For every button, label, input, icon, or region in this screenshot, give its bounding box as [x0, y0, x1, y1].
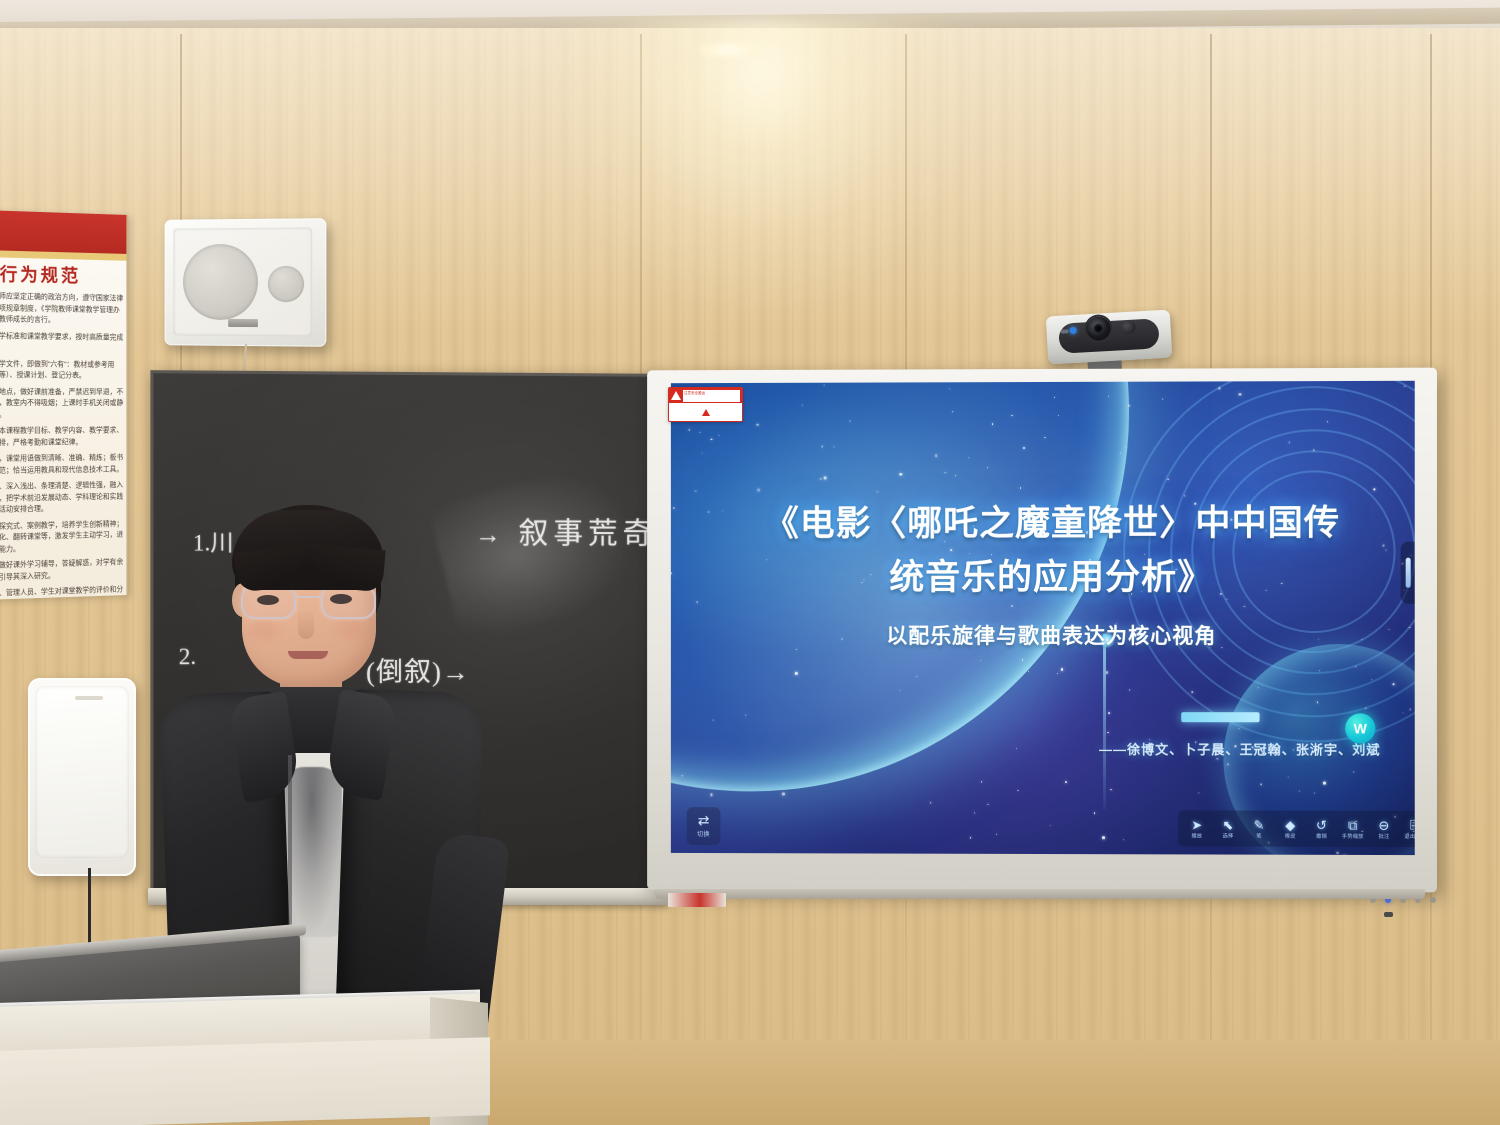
star [1094, 813, 1095, 814]
display-bottom-sticker [668, 893, 726, 907]
light-beam-graphic [1103, 634, 1106, 809]
display-warning-sticker: 注意安全搬运 [668, 387, 743, 422]
speaker-tweeter-icon [268, 266, 304, 302]
toolbar-播放-button[interactable]: ➤播放 [1181, 810, 1212, 846]
presenter-mouth [288, 651, 328, 659]
toolbar-label: 撤销 [1316, 832, 1327, 839]
presentation-slide[interactable]: 《电影〈哪吒之魔童降世〉中中国传 统音乐的应用分析》 以配乐旋律与歌曲表达为核心… [671, 381, 1415, 855]
poster-paragraph: 神圣职责，教师应坚定正确的政治方向，遵守国家法律法规和学校各项规章制度，《学院教… [0, 289, 125, 326]
toolbar-icon: ➤ [1191, 818, 1202, 831]
wps-float-button[interactable]: W [1345, 713, 1375, 743]
toolbar-label: 笔 [1256, 832, 1261, 839]
star [1017, 790, 1018, 791]
warning-triangle-small-icon [702, 409, 710, 416]
slide-divider [1181, 712, 1259, 722]
switch-label: 切换 [697, 829, 710, 838]
toolbar-icon: ↺ [1316, 818, 1327, 831]
display-button-source[interactable] [1430, 897, 1436, 903]
switch-icon: ⇄ [698, 814, 710, 827]
slide-title: 《电影〈哪吒之魔童降世〉中中国传 统音乐的应用分析》 [732, 496, 1372, 605]
wall-speaker [165, 218, 327, 347]
toolbar-icon: ⧉ [1348, 818, 1357, 831]
sidebar-handle-grip-icon [1405, 558, 1410, 588]
poster-title: 教学行为规范 [0, 259, 128, 289]
star [1061, 668, 1064, 671]
star [1102, 837, 1105, 840]
sidebar-handle[interactable] [1401, 542, 1415, 604]
seewo-display[interactable]: 《电影〈哪吒之魔童降世〉中中国传 统音乐的应用分析》 以配乐旋律与歌曲表达为核心… [647, 368, 1437, 893]
poster-body: 神圣职责，教师应坚定正确的政治方向，遵守国家法律法规和学校各项规章制度，《学院教… [0, 289, 128, 600]
warning-sticker-top: 注意安全搬运 [669, 388, 742, 403]
glasses-lens-left [241, 585, 296, 619]
toolbar-撤销-button[interactable]: ↺撤销 [1306, 811, 1337, 847]
toolbar-笔-button[interactable]: ✎笔 [1243, 810, 1274, 846]
poster-paragraph: 照课程大纲教学标准和课堂教学要求，按时高质量完成教学任务。 [0, 329, 125, 354]
warning-triangle-icon [671, 391, 681, 400]
star [981, 781, 982, 782]
poster-paragraph: 课后及时耐心做好课外学习辅导，答疑解惑，对学有余力的学生，要引导其深入研究。 [0, 556, 125, 584]
toolbar-icon: ⎘ [1410, 818, 1415, 831]
star [1123, 839, 1124, 840]
speaker-badge [228, 319, 258, 327]
star [1057, 673, 1058, 674]
wall-poster: 教学行为规范 神圣职责，教师应坚定正确的政治方向，遵守国家法律法规和学校各项规章… [0, 210, 128, 600]
wall-panel-face [35, 686, 129, 858]
poster-paragraph: 教学语言规范，课堂用语做到清晰、准确、精炼；板书书写清楚、规范；恰当运用教具和现… [0, 452, 125, 477]
star [710, 794, 713, 797]
slide-title-line-1: 《电影〈哪吒之魔童降世〉中中国传 [732, 496, 1372, 551]
star [1110, 789, 1111, 790]
warning-sticker-bottom [669, 403, 742, 421]
slide-authors: ——徐博文、卜子晨、王冠翰、张淅宇、刘斌 [999, 739, 1380, 759]
speaker-grille [173, 227, 312, 336]
star [987, 804, 988, 805]
star [1065, 781, 1066, 782]
toolbar-label: 批注 [1379, 832, 1390, 839]
toolbar-选择-button[interactable]: ⬉选择 [1212, 810, 1243, 846]
annotation-toolbar[interactable]: ➤播放⬉选择✎笔◆橡皮↺撤销⧉手势缩放⊖批注⎘退出批注 ‹ 上一页 1 / 15… [1178, 810, 1415, 847]
classroom-scene: 教学行为规范 神圣职责，教师应坚定正确的政治方向，遵守国家法律法规和学校各项规章… [0, 0, 1500, 1125]
star [974, 812, 975, 813]
star [930, 802, 931, 803]
toolbar-label: 退出批注 [1404, 832, 1414, 839]
star [970, 837, 971, 838]
star [996, 834, 997, 835]
toolbar-icon: ✎ [1254, 818, 1265, 831]
toolbar-icon: ⊖ [1378, 818, 1389, 831]
ceiling-lamp [700, 42, 760, 58]
slide-subtitle: 以配乐旋律与歌曲表达为核心视角 [732, 620, 1372, 650]
camera-mic-icon [1061, 329, 1069, 333]
star [1198, 792, 1199, 793]
star [782, 792, 785, 795]
toolbar-label: 选择 [1223, 832, 1234, 839]
star [1050, 825, 1051, 826]
toolbar-label: 播放 [1191, 832, 1202, 839]
star [1028, 671, 1029, 672]
wall-control-panel[interactable] [28, 678, 136, 876]
toolbar-icon: ◆ [1285, 818, 1295, 831]
wall-panel-notch [75, 696, 103, 700]
poster-paragraph: 讲授重点突出、深入浅出、条理清楚、逻辑性强，融入课程思政元素，把学术前沿发展动态… [0, 479, 125, 516]
presenter-cheek-left [248, 621, 278, 641]
toolbar-手势缩放-button[interactable]: ⧉手势缩放 [1337, 811, 1368, 847]
toolbar-橡皮-button[interactable]: ◆橡皮 [1275, 811, 1306, 847]
toolbar-退出批注-button[interactable]: ⎘退出批注 [1400, 811, 1415, 847]
poster-paragraph: 倡导启发式、探究式、案例教学，培养学生创新精神；积极探索小班化、翻转课堂等，激发… [0, 518, 125, 556]
presenter-cheek-right [336, 619, 366, 639]
poster-paragraph: 第一次课介绍本课程教学目标、教学内容、教学要求、考核方式与安排，严格考勤和课堂纪… [0, 424, 125, 448]
conference-camera [1046, 310, 1172, 365]
poster-paragraph: 准时到达教学地点，做好课前准备，严禁迟到早退，不得随意调停课，教室内不得吸烟；上… [0, 385, 125, 420]
toolbar-label: 手势缩放 [1342, 832, 1364, 839]
lectern-front-panel [0, 1037, 490, 1125]
display-bottom-edge [655, 889, 1425, 899]
display-ir-sensor [1384, 912, 1393, 917]
glasses-bridge [296, 596, 321, 598]
toolbar-label: 橡皮 [1285, 832, 1296, 839]
warning-sticker-text: 注意安全搬运 [683, 390, 740, 402]
toolbar-批注-button[interactable]: ⊖批注 [1368, 811, 1399, 847]
toolbar-tools[interactable]: ➤播放⬉选择✎笔◆橡皮↺撤销⧉手势缩放⊖批注⎘退出批注 [1181, 810, 1415, 847]
poster-paragraph: 备齐基本的教学文件，即做到"六有"：教材或参考用书、自编讲义等）、授课计划、登记… [0, 357, 125, 381]
slide-title-line-2: 统音乐的应用分析》 [732, 551, 1372, 605]
poster-red-band [0, 210, 128, 254]
speaker-woofer-icon [183, 244, 258, 320]
display-screen[interactable]: 《电影〈哪吒之魔童降世〉中中国传 统音乐的应用分析》 以配乐旋律与歌曲表达为核心… [671, 381, 1415, 855]
toolbar-icon: ⬉ [1222, 818, 1233, 831]
source-switch-button[interactable]: ⇄ 切换 [687, 807, 721, 845]
